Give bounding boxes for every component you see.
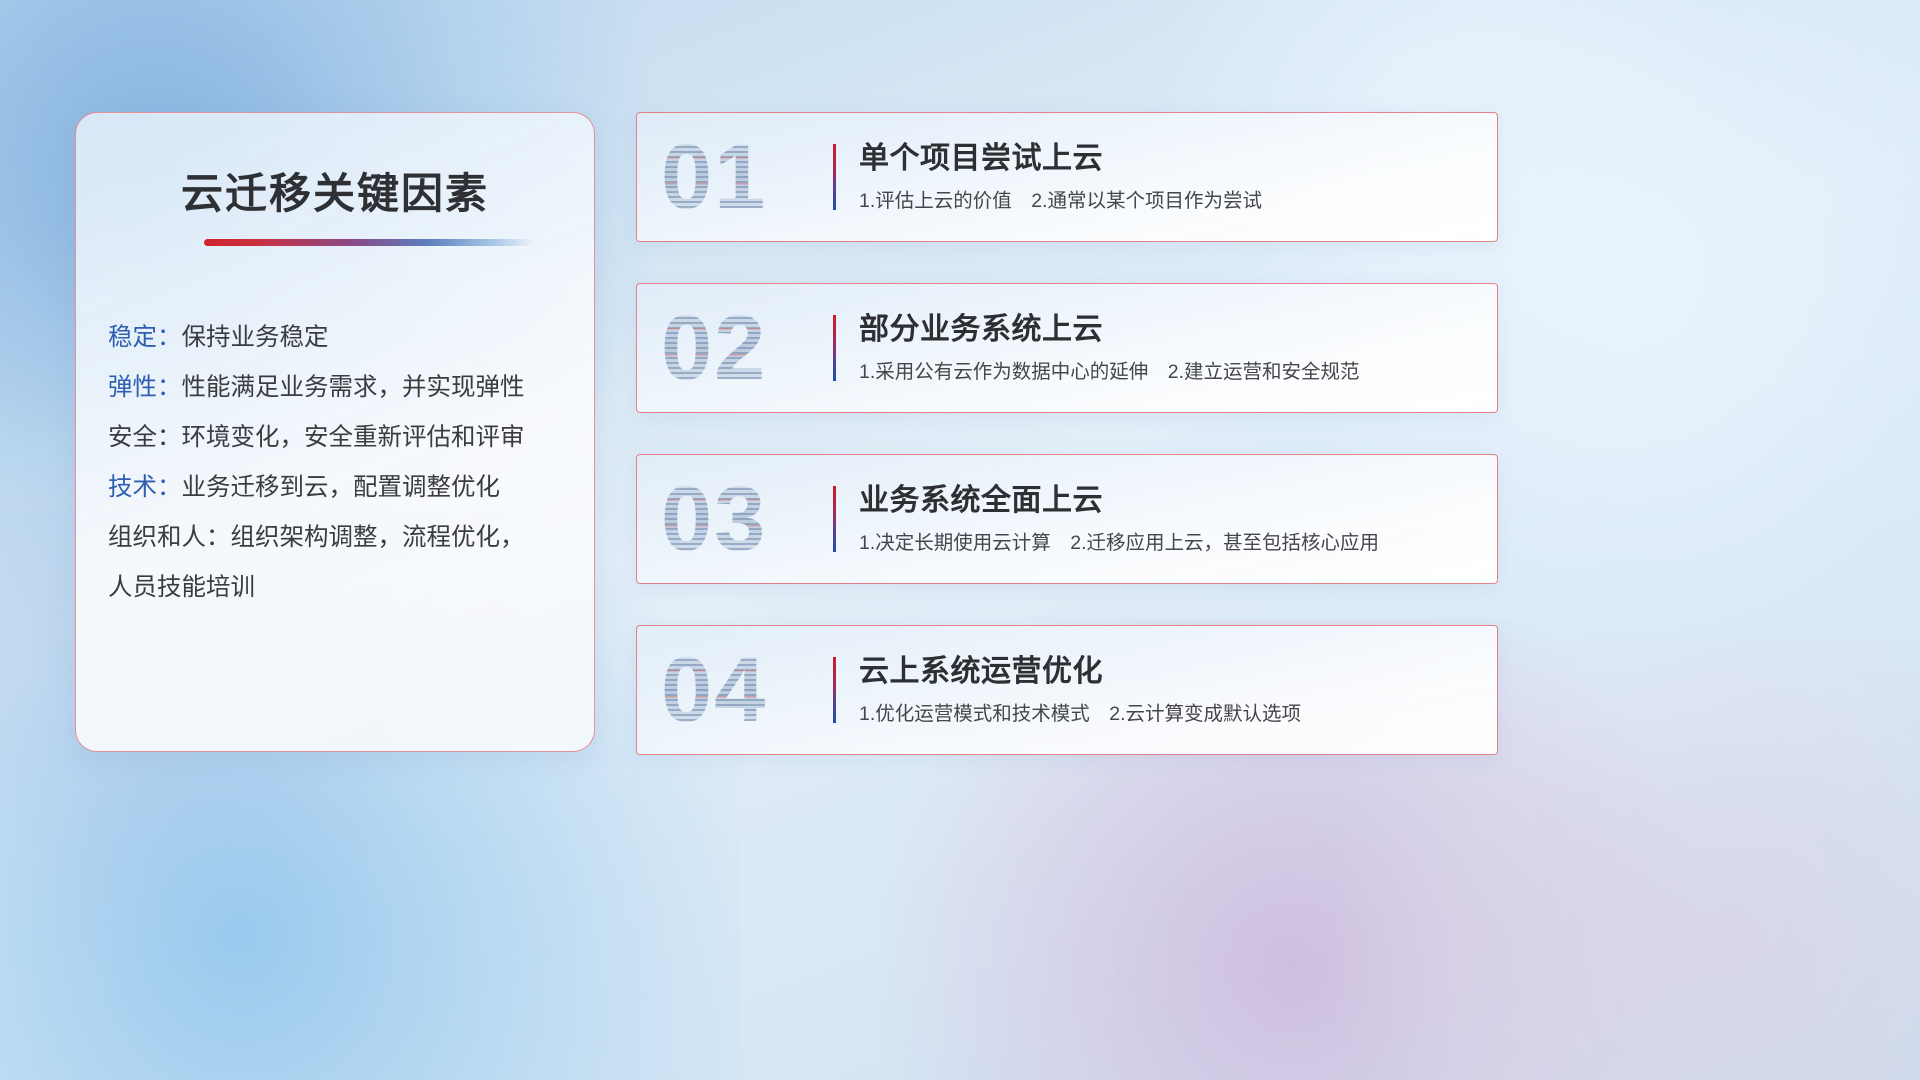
stage-card-title: 业务系统全面上云 [859, 481, 1477, 521]
maturity-stage-cards: 0101单个项目尝试上云1.评估上云的价值 2.通常以某个项目作为尝试0202部… [636, 112, 1498, 755]
key-factor-text: 保持业务稳定 [182, 324, 329, 351]
key-factor-label: 技术： [108, 474, 182, 501]
key-factors-panel: 云迁移关键因素 稳定：保持业务稳定弹性：性能满足业务需求，并实现弹性安全：环境变… [75, 112, 595, 752]
title-underline-gradient [204, 239, 534, 246]
stage-card-subtitle: 1.决定长期使用云计算 2.迁移应用上云，甚至包括核心应用 [859, 530, 1477, 556]
key-factor-label: 组织和人： [108, 524, 231, 551]
key-factor-label: 弹性： [108, 374, 182, 401]
stage-card-text: 单个项目尝试上云1.评估上云的价值 2.通常以某个项目作为尝试 [859, 139, 1477, 214]
stage-number-watermark: 02 [661, 302, 767, 394]
stage-card-text: 云上系统运营优化1.优化运营模式和技术模式 2.云计算变成默认选项 [859, 652, 1477, 727]
key-factor-text: 性能满足业务需求，并实现弹性 [182, 374, 525, 401]
stage-card-subtitle: 1.优化运营模式和技术模式 2.云计算变成默认选项 [859, 701, 1477, 727]
key-factor-label: 稳定： [108, 324, 182, 351]
stage-card[interactable]: 0202部分业务系统上云1.采用公有云作为数据中心的延伸 2.建立运营和安全规范 [636, 283, 1498, 413]
accent-divider-bar [833, 657, 836, 723]
key-factor-text: 环境变化，安全重新评估和评审 [182, 424, 525, 451]
key-factor-row: 人员技能培训 [108, 563, 576, 613]
key-factor-row: 技术：业务迁移到云，配置调整优化 [108, 463, 576, 513]
key-factor-row: 组织和人：组织架构调整，流程优化， [108, 513, 576, 563]
stage-card[interactable]: 0404云上系统运营优化1.优化运营模式和技术模式 2.云计算变成默认选项 [636, 625, 1498, 755]
stage-card[interactable]: 0101单个项目尝试上云1.评估上云的价值 2.通常以某个项目作为尝试 [636, 112, 1498, 242]
stage-card[interactable]: 0303业务系统全面上云1.决定长期使用云计算 2.迁移应用上云，甚至包括核心应… [636, 454, 1498, 584]
key-factor-label: 安全： [108, 424, 182, 451]
stage-card-title: 云上系统运营优化 [859, 652, 1477, 692]
key-factor-text: 业务迁移到云，配置调整优化 [182, 474, 501, 501]
key-factor-row: 弹性：性能满足业务需求，并实现弹性 [108, 363, 576, 413]
stage-number-watermark: 01 [661, 131, 767, 223]
key-factor-text: 组织架构调整，流程优化， [231, 524, 525, 551]
stage-card-subtitle: 1.采用公有云作为数据中心的延伸 2.建立运营和安全规范 [859, 359, 1477, 385]
stage-number-watermark: 03 [661, 473, 767, 565]
stage-number-watermark: 04 [661, 644, 767, 736]
stage-card-title: 部分业务系统上云 [859, 310, 1477, 350]
stage-card-subtitle: 1.评估上云的价值 2.通常以某个项目作为尝试 [859, 188, 1477, 214]
accent-divider-bar [833, 144, 836, 210]
key-factor-text: 人员技能培训 [108, 574, 255, 601]
slide-stage: 云迁移关键因素 稳定：保持业务稳定弹性：性能满足业务需求，并实现弹性安全：环境变… [0, 0, 1920, 1080]
key-factor-row: 安全：环境变化，安全重新评估和评审 [108, 413, 576, 463]
stage-card-text: 业务系统全面上云1.决定长期使用云计算 2.迁移应用上云，甚至包括核心应用 [859, 481, 1477, 556]
key-factor-row: 稳定：保持业务稳定 [108, 313, 576, 363]
stage-card-text: 部分业务系统上云1.采用公有云作为数据中心的延伸 2.建立运营和安全规范 [859, 310, 1477, 385]
accent-divider-bar [833, 486, 836, 552]
stage-card-title: 单个项目尝试上云 [859, 139, 1477, 179]
panel-title: 云迁移关键因素 [76, 160, 594, 221]
key-factors-list: 稳定：保持业务稳定弹性：性能满足业务需求，并实现弹性安全：环境变化，安全重新评估… [108, 313, 576, 613]
accent-divider-bar [833, 315, 836, 381]
